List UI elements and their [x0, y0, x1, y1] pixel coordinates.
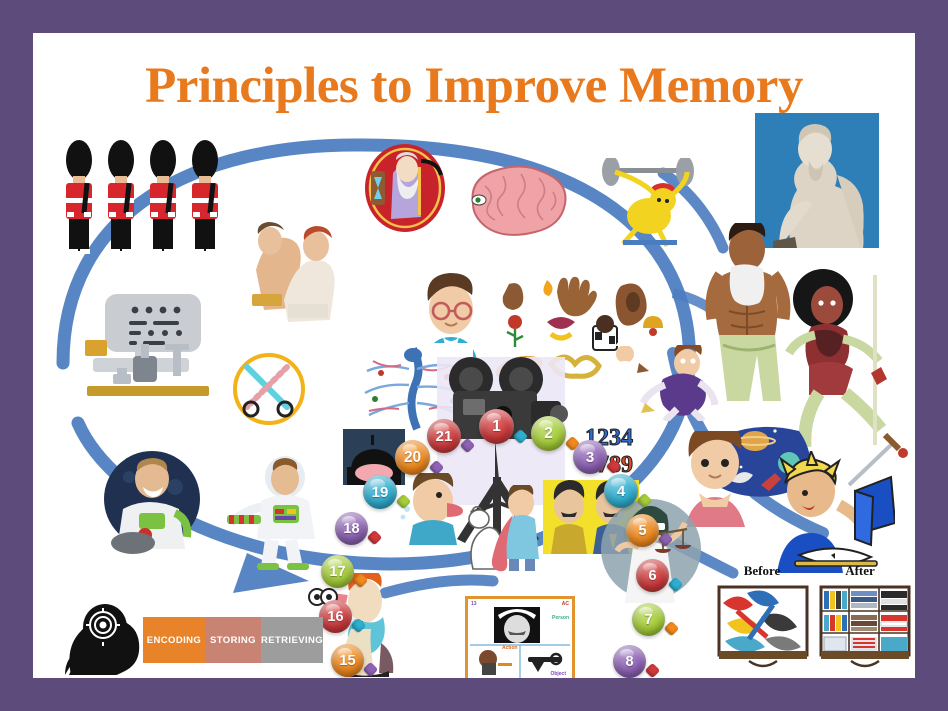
number-ball-2[interactable]: 2	[531, 416, 566, 451]
number-ball-label: 5	[638, 523, 646, 539]
slide-frame: Principles to Improve Memory	[0, 0, 948, 711]
astronaut-buzz	[97, 447, 207, 557]
number-ball-label: 6	[648, 568, 656, 584]
number-ball-label: 18	[343, 521, 359, 537]
flow-segment-storing: STORING	[205, 617, 261, 663]
number-ball-3[interactable]: 3	[573, 440, 607, 474]
flow-segment-retrieving: RETRIEVING	[261, 617, 323, 663]
number-ball-ring: 211234567891011121314151617181920	[323, 225, 683, 585]
sword	[841, 433, 911, 493]
number-ball-7[interactable]: 7	[632, 603, 665, 636]
ball-connector-gem	[429, 459, 445, 475]
after-label: After	[817, 563, 903, 579]
number-ball-label: 2	[544, 425, 553, 443]
number-ball-15[interactable]: 15	[331, 644, 364, 677]
ball-connector-gem	[658, 532, 674, 548]
number-ball-8[interactable]: 8	[613, 645, 646, 678]
number-ball-1[interactable]: 1	[479, 409, 514, 444]
flow-label-encoding: ENCODING	[147, 635, 201, 646]
number-ball-21[interactable]: 21	[427, 419, 461, 453]
number-ball-label: 8	[625, 654, 633, 670]
number-ball-18[interactable]: 18	[335, 512, 368, 545]
number-ball-label: 1	[492, 418, 501, 436]
father-time	[355, 143, 455, 233]
scissors-circle	[229, 349, 309, 429]
number-ball-6[interactable]: 6	[636, 559, 669, 592]
number-ball-17[interactable]: 17	[321, 555, 354, 588]
number-ball-16[interactable]: 16	[319, 600, 352, 633]
number-ball-label: 16	[327, 609, 343, 625]
number-ball-5[interactable]: 5	[626, 514, 659, 547]
memory-process-diagram: ENCODING STORING RETRIEVING	[61, 603, 309, 675]
ball-connector-gem	[460, 438, 476, 454]
flow-label-storing: STORING	[210, 635, 256, 646]
royal-guards	[53, 138, 233, 268]
number-ball-4[interactable]: 4	[604, 474, 638, 508]
ball-connector-gem	[513, 428, 529, 444]
telegraph-machine	[81, 288, 221, 398]
number-ball-label: 20	[404, 449, 421, 467]
number-ball-label: 7	[644, 612, 652, 628]
number-ball-label: 21	[436, 428, 453, 445]
number-ball-label: 15	[339, 653, 355, 669]
number-ball-20[interactable]: 20	[395, 440, 430, 475]
before-label: Before	[719, 563, 805, 579]
before-after-group: Before After	[717, 563, 913, 675]
ball-connector-gem	[606, 459, 622, 475]
number-ball-label: 3	[586, 449, 594, 466]
number-ball-label: 19	[372, 484, 389, 501]
buzz-lightyear	[223, 453, 333, 571]
number-ball-label: 17	[329, 564, 345, 580]
number-ball-label: 4	[617, 483, 625, 500]
ball-connector-gem	[396, 494, 412, 510]
ball-connector-gem	[637, 493, 653, 509]
flow-segment-encoding: ENCODING	[143, 617, 205, 663]
flow-label-retrieving: RETRIEVING	[261, 635, 323, 646]
number-ball-19[interactable]: 19	[363, 475, 397, 509]
ball-connector-gem	[367, 530, 383, 546]
slide-canvas: Principles to Improve Memory	[33, 33, 915, 678]
pao-card: 13 AC Person Action Object	[465, 596, 575, 678]
